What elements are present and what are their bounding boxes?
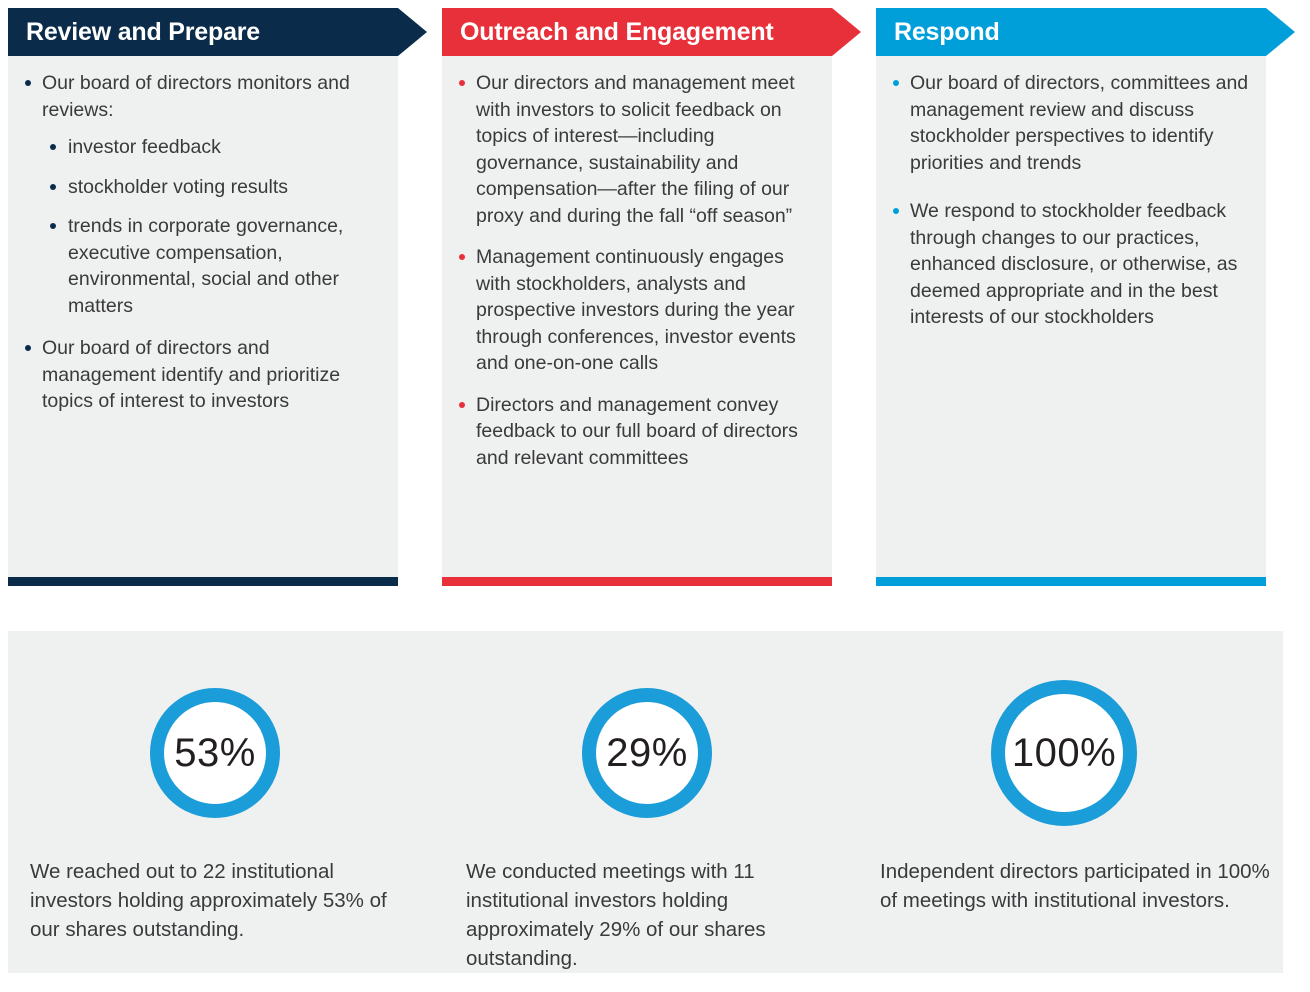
stat-value: 53% [174,733,256,773]
stat-outreach-percentage: 53% We reached out to 22 institutional i… [30,673,430,944]
process-header-respond: Respond [876,8,1266,56]
chevron-arrow-icon [832,8,861,56]
process-body-review-and-prepare: Our board of directors monitors and revi… [8,56,398,577]
bullet-dot-icon [50,223,56,229]
process-header-label: Outreach and Engagement [460,18,774,47]
stat-director-participation-percentage: 100% Independent directors participated … [880,673,1280,915]
bullet-dot-icon [459,254,465,260]
list-item-text: Directors and management convey feedback… [476,394,798,469]
stat-value: 100% [1012,733,1116,773]
donut-ring-icon: 29% [582,688,712,818]
list-item-text: Our board of directors monitors and revi… [42,72,350,121]
stat-meetings-percentage: 29% We conducted meetings with 11 instit… [466,673,866,973]
bullet-dot-icon [893,208,899,214]
list-item-text: We respond to stockholder feedback throu… [910,200,1237,328]
process-body-respond: Our board of directors, committees and m… [876,56,1266,577]
list-item: Our directors and management meet with i… [450,70,818,229]
list-item: Management continuously engages with sto… [450,244,818,377]
process-column-outreach-and-engagement: Outreach and Engagement Our directors an… [442,8,832,586]
list-item: trends in corporate governance, executiv… [42,213,384,319]
list-item: Our board of directors, committees and m… [884,70,1252,176]
list-item: We respond to stockholder feedback throu… [884,198,1252,331]
stat-ring-wrapper: 100% [880,673,1280,833]
list-item-text: trends in corporate governance, executiv… [68,215,343,317]
list-item-text: stockholder voting results [68,176,288,198]
list-item: Directors and management convey feedback… [450,392,818,472]
bullet-dot-icon [25,345,31,351]
list-item: investor feedback [42,134,384,161]
donut-ring-icon: 53% [150,688,280,818]
bullet-list: Our board of directors, committees and m… [884,70,1252,331]
list-item-text: Management continuously engages with sto… [476,246,796,374]
list-item: Our board of directors monitors and revi… [16,70,384,319]
stat-caption: We conducted meetings with 11 institutio… [466,857,816,973]
chevron-arrow-icon [1266,8,1295,56]
stat-caption: Independent directors participated in 10… [880,857,1270,915]
bullet-dot-icon [893,80,899,86]
process-header-review-and-prepare: Review and Prepare [8,8,398,56]
process-column-review-and-prepare: Review and Prepare Our board of director… [8,8,398,586]
process-header-outreach-and-engagement: Outreach and Engagement [442,8,832,56]
list-item-text: Our board of directors and management id… [42,337,340,412]
bullet-dot-icon [50,144,56,150]
list-item: Our board of directors and management id… [16,335,384,415]
donut-ring-icon: 100% [991,680,1137,826]
list-item: stockholder voting results [42,174,384,201]
process-column-respond: Respond Our board of directors, committe… [876,8,1266,586]
process-accent-rule [8,577,398,586]
bullet-list: Our directors and management meet with i… [450,70,818,471]
engagement-process-row: Review and Prepare Our board of director… [0,0,1310,600]
list-item-text: Our board of directors, committees and m… [910,72,1248,174]
stat-ring-wrapper: 53% [30,673,430,833]
chevron-arrow-icon [398,8,427,56]
list-item-text: Our directors and management meet with i… [476,72,795,227]
process-header-label: Review and Prepare [26,18,260,47]
stat-ring-wrapper: 29% [466,673,866,833]
list-item-text: investor feedback [68,136,221,158]
process-header-label: Respond [894,18,1000,47]
process-accent-rule [876,577,1266,586]
process-accent-rule [442,577,832,586]
stat-value: 29% [606,733,688,773]
stat-caption: We reached out to 22 institutional inves… [30,857,400,944]
bullet-list: Our board of directors monitors and revi… [16,70,384,415]
bullet-dot-icon [459,80,465,86]
bullet-dot-icon [25,80,31,86]
process-body-outreach-and-engagement: Our directors and management meet with i… [442,56,832,577]
sub-bullet-list: investor feedback stockholder voting res… [42,134,384,319]
bullet-dot-icon [50,184,56,190]
engagement-statistics-panel: 53% We reached out to 22 institutional i… [8,631,1283,973]
bullet-dot-icon [459,402,465,408]
